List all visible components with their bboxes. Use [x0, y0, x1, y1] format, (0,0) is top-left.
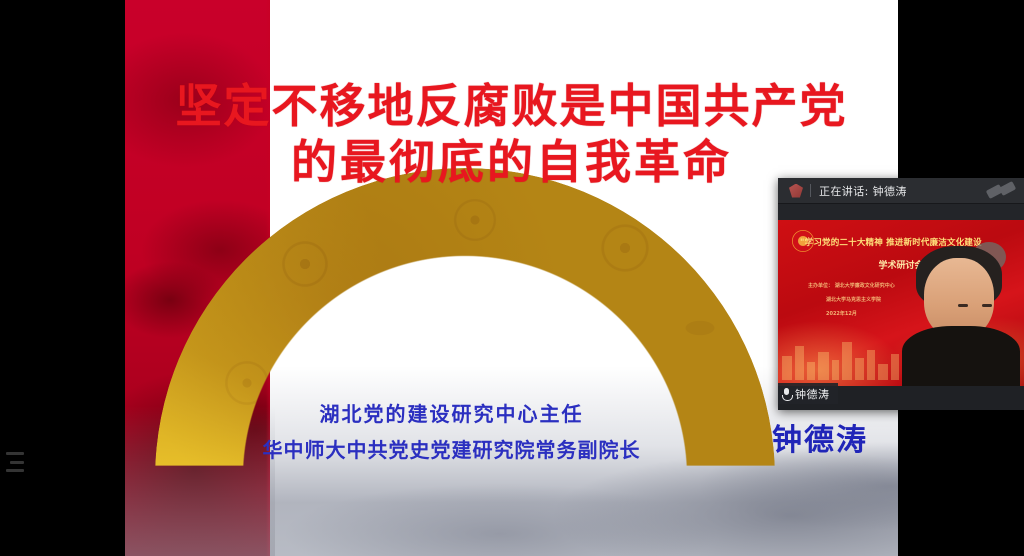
list-menu-icon[interactable]	[6, 452, 28, 472]
banner-date: 2022年12月	[826, 310, 857, 317]
participant-name-label: 钟德涛	[795, 386, 830, 402]
slide-title-line-1: 坚定不移地反腐败是中国共产党	[125, 78, 898, 134]
menu-bar-2	[10, 461, 24, 464]
screen-root: 坚定不移地反腐败是中国共产党 的最彻底的自我革命 湖北党的建设研究中心主任 华中…	[0, 0, 1024, 556]
collapse-panel-icon[interactable]	[987, 183, 1017, 199]
banner-host-line-2: 湖北大学马克思主义学院	[826, 296, 881, 303]
slide-speaker-name: 钟德涛	[740, 415, 898, 459]
header-divider	[810, 184, 811, 197]
video-panel-footer: 钟德涛	[778, 386, 1024, 410]
collapse-shape-2	[999, 181, 1016, 196]
video-panel-toolbar-strip	[778, 204, 1024, 220]
slide-title: 坚定不移地反腐败是中国共产党 的最彻底的自我革命	[125, 78, 898, 190]
fan-floral-pattern	[155, 168, 775, 556]
speaker-torso	[902, 326, 1020, 386]
app-badge-icon	[789, 184, 803, 198]
speaker-eye-left	[958, 304, 968, 307]
speaking-status-label: 正在讲话: 钟德涛	[819, 183, 907, 199]
participant-name-badge: 钟德涛	[778, 383, 838, 404]
microphone-icon	[782, 388, 791, 400]
left-black-rail	[0, 0, 125, 556]
video-panel-header[interactable]: 正在讲话: 钟德涛	[778, 178, 1024, 204]
speaker-webcam-image	[900, 236, 1022, 386]
banner-host-line-1: 主办单位： 湖北大学廉政文化研究中心	[808, 282, 895, 289]
menu-bar-3	[6, 469, 24, 472]
speaker-video-panel[interactable]: 正在讲话: 钟德涛	[778, 178, 1024, 410]
video-feed[interactable]: "学习党的二十大精神 推进新时代廉洁文化建设 学术研讨会 主办单位： 湖北大学廉…	[778, 220, 1024, 386]
menu-bar-1	[6, 452, 24, 455]
speaker-eye-right	[982, 304, 992, 307]
